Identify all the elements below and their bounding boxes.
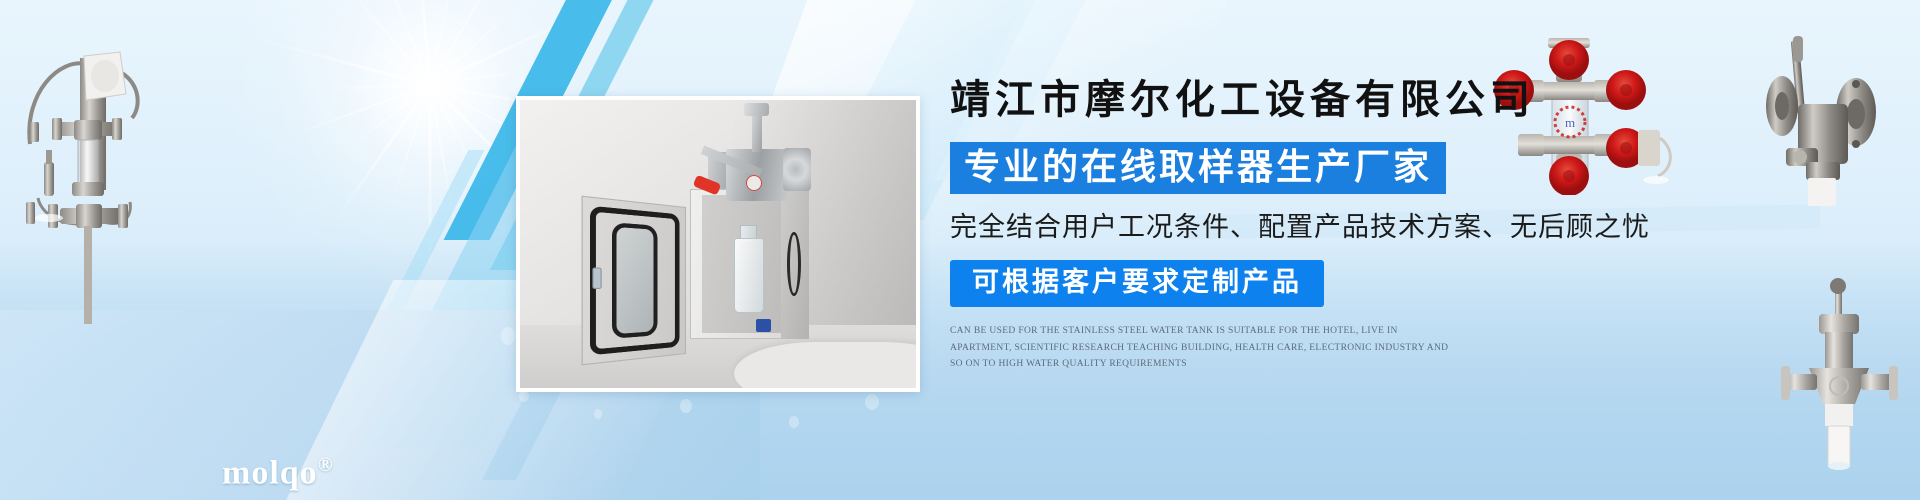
- sampler-equipment-left-icon: [8, 22, 168, 332]
- sub-headline: 完全结合用户工况条件、配置产品技术方案、无后顾之忧: [950, 214, 1710, 241]
- brand-watermark: molqo®: [222, 455, 334, 490]
- sun-ray: [412, 0, 431, 85]
- photo-valve-knob: [744, 103, 770, 116]
- promo-banner: m: [0, 0, 1920, 500]
- sun-ray: [334, 84, 431, 221]
- photo-cabinet-door: [582, 195, 686, 365]
- sun-ray: [261, 38, 431, 86]
- photo-valve-flange-right: [783, 148, 811, 191]
- needle-sampling-valve-icon: [1775, 270, 1905, 485]
- photo-door-window: [613, 222, 658, 338]
- photo-sample-bottle: [734, 238, 764, 313]
- lever-sampling-valve-icon: [1760, 22, 1910, 222]
- english-description: CAN BE USED FOR THE STAINLESS STEEL WATE…: [950, 323, 1460, 373]
- photo-valve-badge: [746, 175, 762, 191]
- photo-cabinet-handle: [787, 232, 800, 295]
- sun-ray: [429, 0, 451, 85]
- registered-mark-icon: ®: [318, 454, 334, 476]
- watermark-text: molqo: [222, 454, 318, 491]
- photo-blue-cap: [756, 319, 772, 332]
- photo-pedestal: [734, 342, 916, 388]
- photo-door-lock: [592, 267, 602, 288]
- headline-highlight: 专业的在线取样器生产厂家: [950, 142, 1446, 194]
- sun-ray: [392, 85, 431, 200]
- product-photo: [516, 96, 920, 392]
- company-name: 靖江市摩尔化工设备有限公司: [950, 80, 1710, 120]
- custom-product-cta[interactable]: 可根据客户要求定制产品: [950, 260, 1324, 307]
- banner-text-block: 靖江市摩尔化工设备有限公司 专业的在线取样器生产厂家 完全结合用户工况条件、配置…: [950, 80, 1710, 373]
